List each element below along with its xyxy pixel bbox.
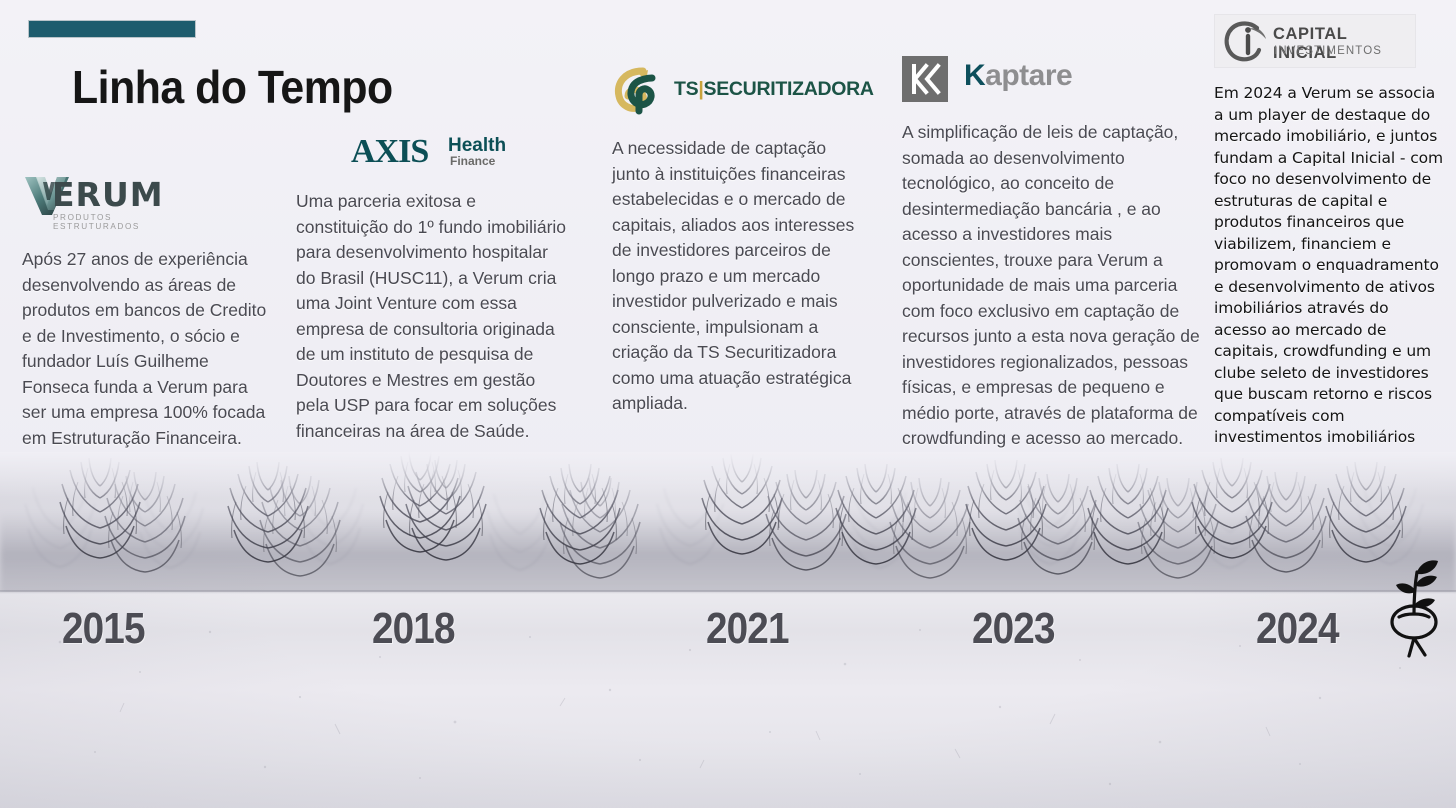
timeline-item-2015: ERUM PRODUTOS ESTRUTURADOS Após 27 anos … — [22, 175, 274, 451]
ts-swirl-arrow-icon — [612, 66, 664, 116]
capital-inicial-ci-monogram-icon — [1221, 19, 1269, 64]
capital-inicial-subtitle: INVESTIMENTOS — [1274, 45, 1382, 57]
axis-wordmark: AXIS — [351, 133, 428, 171]
axis-finance-word: Finance — [450, 154, 495, 168]
timeline-item-2024: CAPITAL INICIAL INVESTIMENTOS Em 2024 a … — [1214, 14, 1446, 449]
timeline-text-2015: Após 27 anos de experiência desenvolvend… — [22, 247, 270, 451]
timeline-text-2018: Uma parceria exitosa e constituição do 1… — [296, 189, 568, 444]
accent-bar — [28, 20, 196, 38]
timeline-text-2024: Em 2024 a Verum se associa a um player d… — [1214, 83, 1444, 449]
axis-health-finance-logo: AXIS Health Finance — [351, 133, 501, 175]
verum-tagline: PRODUTOS ESTRUTURADOS — [53, 213, 174, 231]
verum-wordmark: ERUM — [52, 175, 164, 214]
year-label-2021: 2021 — [706, 604, 789, 654]
timeline-text-2021: A necessidade de captação junto à instit… — [612, 136, 868, 417]
year-label-2015: 2015 — [62, 604, 145, 654]
timeline-item-2018: AXIS Health Finance Uma parceria exitosa… — [296, 133, 568, 444]
timeline-item-2021: TS|SECURITIZADORA A necessidade de capta… — [612, 66, 874, 417]
slide-canvas: Linha do Tempo ERUM P — [0, 0, 1456, 808]
kaptare-chevron-k-square-icon — [902, 56, 948, 102]
year-label-2018: 2018 — [372, 604, 455, 654]
capital-inicial-wordmark: CAPITAL INICIAL — [1273, 25, 1415, 63]
year-label-2024: 2024 — [1256, 604, 1339, 654]
ts-wordmark: TS|SECURITIZADORA — [674, 78, 874, 101]
photo-top-fade — [0, 452, 1456, 498]
capital-inicial-logo: CAPITAL INICIAL INVESTIMENTOS — [1214, 14, 1416, 68]
ts-securitizadora-logo: TS|SECURITIZADORA — [612, 66, 852, 116]
verum-logo: ERUM PRODUTOS ESTRUTURADOS — [22, 175, 174, 231]
timeline-item-2023: Kaptare A simplificação de leis de capta… — [902, 56, 1202, 452]
page-title: Linha do Tempo — [72, 60, 393, 114]
sprout-icon — [1381, 556, 1447, 662]
kaptare-wordmark: Kaptare — [964, 59, 1072, 93]
year-label-2023: 2023 — [972, 604, 1055, 654]
kaptare-logo: Kaptare — [902, 56, 1102, 104]
timeline-text-2023: A simplificação de leis de captação, som… — [902, 120, 1200, 452]
